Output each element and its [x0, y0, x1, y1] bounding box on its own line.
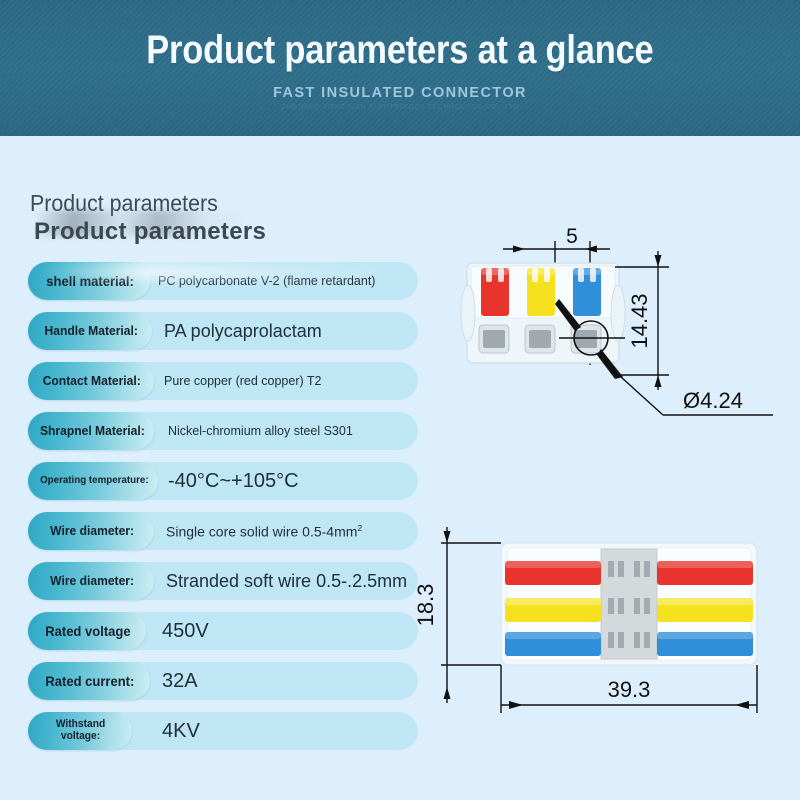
- param-label-line1: Withstand: [56, 718, 105, 730]
- lever-yellow: [527, 268, 555, 316]
- param-label-text: Shrapnel Material:: [40, 424, 145, 438]
- dim-label-height: 18.3: [413, 584, 438, 627]
- lever-blue: [573, 268, 601, 316]
- param-value-superscript: 2: [357, 523, 362, 533]
- param-label-text: shell material:: [46, 274, 134, 289]
- param-value: PC polycarbonate V-2 (flame retardant): [158, 274, 375, 288]
- param-label-chip: Wire diameter:: [28, 512, 154, 550]
- page-title: Product parameters at a glance: [146, 28, 653, 73]
- param-label-chip: Operating temperature:: [28, 462, 158, 500]
- section-heading-bold: Product parameters: [34, 218, 266, 246]
- param-value: 4KV: [162, 720, 200, 743]
- section-heading-group: Product parameters Product parameters: [28, 190, 418, 262]
- param-label-text: Wire diameter:: [50, 524, 134, 538]
- connector-3way-body: [461, 263, 625, 363]
- param-label-text: Rated voltage: [45, 624, 130, 639]
- header-company-name: ZHEJIANG TONGJUAN ELECTRONICS TECHNOLOGY…: [281, 104, 519, 111]
- param-value: Stranded soft wire 0.5-.2.5mm: [166, 571, 407, 592]
- param-value-text: Single core solid wire 0.5-4mm: [166, 523, 357, 539]
- param-label-text: Handle Material:: [44, 324, 137, 338]
- table-row: Shrapnel Material: Nickel-chromium alloy…: [28, 412, 418, 450]
- table-row: Handle Material: PA polycaprolactam: [28, 312, 418, 350]
- section-heading-thin: Product parameters: [30, 190, 218, 217]
- page-header: Product parameters at a glance FAST INSU…: [0, 0, 800, 136]
- connector-inline-body: [501, 543, 757, 665]
- header-subtitle: FAST INSULATED CONNECTOR: [273, 85, 527, 101]
- table-row: Rated voltage 450V: [28, 612, 418, 650]
- param-label-line2: voltage:: [61, 730, 100, 742]
- param-value: 32A: [162, 670, 198, 693]
- param-label-chip: Rated current:: [28, 662, 150, 700]
- table-row: Contact Material: Pure copper (red coppe…: [28, 362, 418, 400]
- drawing-inline-splice-connector: 18.3: [405, 505, 795, 730]
- dim-label-diameter: Ø4.24: [683, 388, 743, 413]
- param-label-text: Rated current:: [46, 674, 135, 689]
- table-row: Withstandvoltage: 4KV: [28, 712, 418, 750]
- param-label-chip: Rated voltage: [28, 612, 146, 650]
- dim-height-group: [441, 527, 501, 703]
- drawing-3way-connector: 5: [455, 205, 795, 430]
- table-row: Wire diameter: Stranded soft wire 0.5-.2…: [28, 562, 418, 600]
- param-value: Single core solid wire 0.5-4mm2: [166, 523, 362, 540]
- table-row: Wire diameter: Single core solid wire 0.…: [28, 512, 418, 550]
- lever-red: [481, 268, 509, 316]
- dim-label-height: 14.43: [627, 293, 652, 348]
- param-value: Pure copper (red copper) T2: [164, 374, 322, 388]
- param-label-text: Operating temperature:: [40, 475, 149, 486]
- param-value: PA polycaprolactam: [164, 321, 322, 342]
- param-value: -40°C~+105°C: [168, 470, 299, 493]
- param-label-chip: shell material:: [28, 262, 150, 300]
- param-label-chip: Contact Material:: [28, 362, 154, 400]
- param-value: Nickel-chromium alloy steel S301: [168, 424, 353, 438]
- dim-label-width: 39.3: [608, 677, 651, 702]
- table-row: Operating temperature: -40°C~+105°C: [28, 462, 418, 500]
- param-label-chip: Shrapnel Material:: [28, 412, 154, 450]
- param-label-text: Withstandvoltage:: [56, 719, 105, 742]
- param-label-text: Wire diameter:: [50, 574, 134, 588]
- param-label-text: Contact Material:: [43, 374, 141, 388]
- param-label-chip: Wire diameter:: [28, 562, 154, 600]
- param-value: 450V: [162, 620, 209, 643]
- product-parameters-panel: Product parameters Product parameters sh…: [28, 190, 418, 762]
- dim-label-width: 5: [566, 225, 578, 248]
- param-label-chip: Withstandvoltage:: [28, 712, 132, 750]
- param-label-chip: Handle Material:: [28, 312, 152, 350]
- wire-entry-holes: [479, 325, 601, 353]
- table-row: shell material: PC polycarbonate V-2 (fl…: [28, 262, 418, 300]
- table-row: Rated current: 32A: [28, 662, 418, 700]
